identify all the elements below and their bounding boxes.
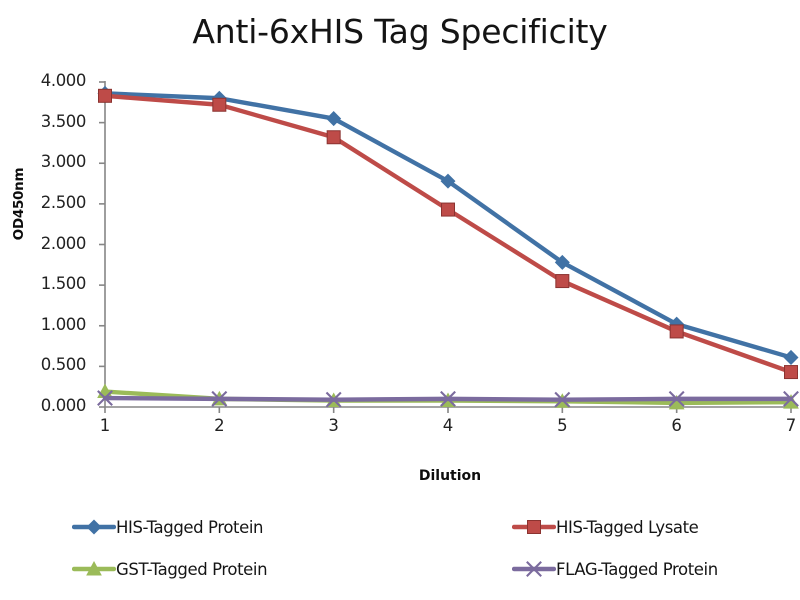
legend-label: GST-Tagged Protein bbox=[116, 560, 267, 579]
legend-item[interactable]: HIS-Tagged Lysate bbox=[512, 514, 698, 540]
legend-item[interactable]: GST-Tagged Protein bbox=[72, 556, 267, 582]
data-point-marker-square bbox=[99, 89, 112, 102]
series-his-tagged-protein bbox=[98, 87, 798, 365]
series-line bbox=[105, 93, 791, 357]
data-point-marker-square bbox=[556, 275, 569, 288]
legend-item[interactable]: FLAG-Tagged Protein bbox=[512, 556, 718, 582]
legend-marker-square-icon bbox=[512, 516, 556, 538]
legend-label: HIS-Tagged Protein bbox=[116, 518, 263, 537]
legend-marker-x-icon bbox=[512, 558, 556, 580]
data-point-marker-square bbox=[213, 98, 226, 111]
legend-marker-diamond-icon bbox=[72, 516, 116, 538]
series-his-tagged-lysate bbox=[99, 89, 798, 378]
chart-container: Anti-6xHIS Tag Specificity OD450nm Dilut… bbox=[0, 0, 800, 600]
data-point-marker-square bbox=[327, 131, 340, 144]
data-point-marker-square bbox=[670, 325, 683, 338]
data-point-marker-square bbox=[785, 366, 798, 379]
data-point-marker-square bbox=[528, 521, 541, 534]
data-point-marker-diamond bbox=[784, 351, 798, 365]
series-line bbox=[105, 96, 791, 372]
data-point-marker-square bbox=[442, 203, 455, 216]
data-point-marker-diamond bbox=[87, 520, 101, 534]
legend-label: HIS-Tagged Lysate bbox=[556, 518, 698, 537]
legend-marker-triangle-icon bbox=[72, 558, 116, 580]
chart-legend: HIS-Tagged ProteinHIS-Tagged LysateGST-T… bbox=[72, 508, 792, 588]
legend-label: FLAG-Tagged Protein bbox=[556, 560, 718, 579]
legend-item[interactable]: HIS-Tagged Protein bbox=[72, 514, 263, 540]
